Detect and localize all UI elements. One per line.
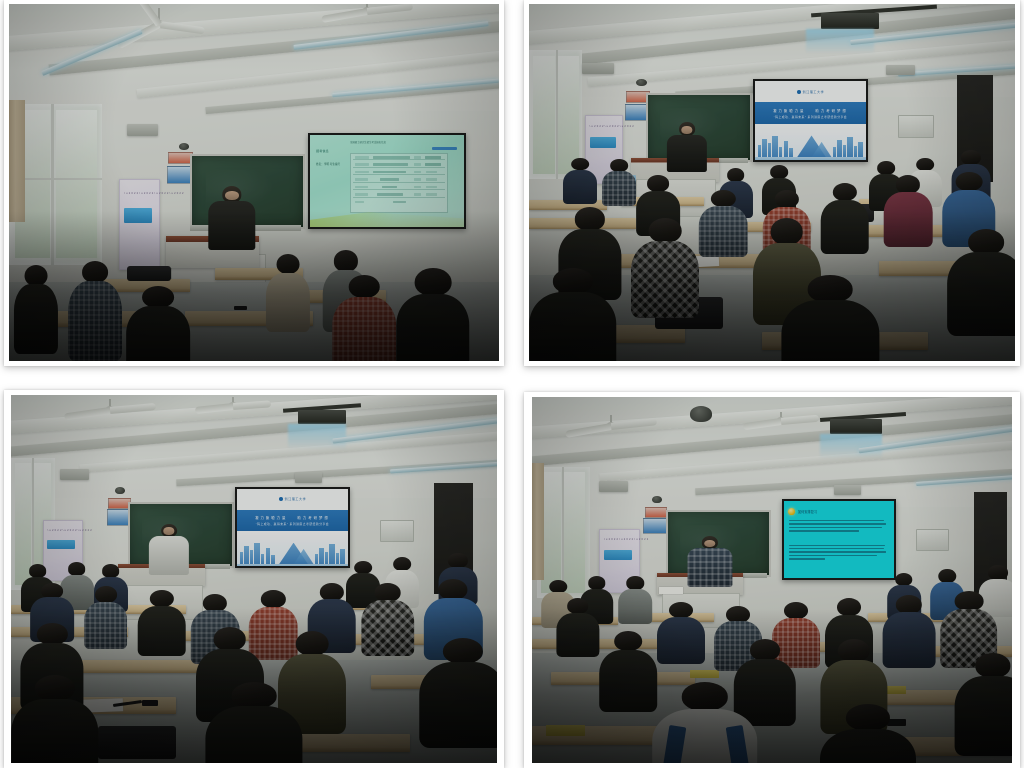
- presenter: [686, 536, 734, 587]
- dome-camera-icon: [636, 79, 647, 86]
- slide-header: 全国硕士研究生招生考试报名信息: [350, 140, 386, 144]
- photo-bottom-right: \u2022\u2022\u2022 如何安排复习: [532, 397, 1012, 763]
- wall-sign-red: [168, 152, 193, 164]
- slide-banner: 凝力聚聪力量 助力考研梦想 “码上成功、赢得未来” 系列讲座之考研经验分享会: [237, 510, 349, 532]
- slide-heading: 如何安排复习: [788, 505, 817, 517]
- audience-member: [563, 158, 597, 204]
- slide-badge: [432, 147, 457, 151]
- audience-member: [137, 590, 186, 656]
- audience-member: [84, 586, 128, 649]
- wall-sign-blue: [167, 166, 194, 184]
- yellow-booklet: [546, 725, 584, 736]
- slide-line1-right: 助力考研梦想: [297, 515, 329, 520]
- ceiling-projector: [821, 13, 879, 29]
- audience-member: [782, 275, 879, 361]
- ceiling-fan-icon: [753, 412, 809, 434]
- audience-member: [529, 268, 616, 361]
- poster-title: \u2022\u2022\u2022\u2022: [124, 192, 185, 195]
- slide-paragraph: [789, 520, 888, 534]
- slide-paragraph: [789, 545, 888, 562]
- smartphone: [142, 700, 158, 706]
- audience-member: [361, 583, 414, 657]
- photo-collage: \u2022\u2022\u2022\u2022 全国硕士研究生招生考试报名信息…: [0, 0, 1024, 768]
- air-conditioner: [916, 529, 949, 551]
- audience-member: [821, 183, 870, 254]
- slide-cityscape: [755, 124, 867, 159]
- slide-logo-text: 浙江理工大学: [285, 497, 307, 501]
- audience-member: [68, 261, 122, 361]
- audience-member: [266, 254, 310, 333]
- wall-speaker: [127, 124, 159, 136]
- ceiling-projector: [298, 410, 347, 425]
- audience-member: [599, 631, 657, 712]
- curtain: [9, 100, 25, 221]
- slide-title: 如何安排复习: [798, 509, 817, 514]
- poster-badge: [590, 137, 616, 148]
- ceiling-fan-icon: [580, 415, 642, 441]
- slide-line1-left: 凝力聚聪力量: [255, 515, 287, 520]
- air-conditioner: [898, 115, 934, 138]
- audience-member: [947, 229, 1015, 336]
- wall-speaker: [295, 472, 322, 482]
- slide-cyan-text: 如何安排复习: [784, 501, 894, 578]
- slide-logo: 浙江理工大学: [755, 81, 867, 102]
- projection-screen: 浙江理工大学 凝力聚聪力量 助力考研梦想 “码上成功、赢得未来” 系列讲座之考研…: [235, 487, 351, 568]
- audience-member: [419, 638, 497, 748]
- audience-member: [631, 218, 699, 318]
- slide-subtitle: 姓名：李明 考生编号: [316, 162, 340, 166]
- audience-member: [127, 286, 191, 361]
- wall-sign-blue: [643, 518, 667, 535]
- dome-camera-icon: [115, 487, 125, 494]
- lightbulb-icon: [788, 508, 795, 515]
- dome-camera-icon: [652, 496, 662, 503]
- slide-logo-text: 浙江理工大学: [803, 90, 825, 94]
- audience-member: [11, 675, 98, 763]
- photo-top-right: \u2022\u2022\u2022 浙江理工大: [529, 4, 1015, 361]
- poster-badge: [124, 208, 152, 222]
- slide-logo: 浙江理工大学: [237, 489, 349, 510]
- audience-member: [602, 159, 636, 205]
- wall-speaker: [60, 469, 89, 480]
- slide-title: 报考信息: [316, 149, 329, 153]
- wall-speaker: [599, 481, 628, 492]
- air-conditioner: [380, 520, 414, 542]
- slide-cityscape: [237, 531, 349, 566]
- photo-frame-top-right[interactable]: \u2022\u2022\u2022 浙江理工大: [524, 0, 1020, 366]
- ceiling-projector: [830, 419, 883, 434]
- poster-cabinet: \u2022\u2022\u2022\u2022: [119, 179, 160, 270]
- wall-sign-red: [645, 507, 667, 518]
- slide-blue-title: 浙江理工大学 凝力聚聪力量 助力考研梦想 “码上成功、赢得未来” 系列讲座之考研…: [755, 81, 867, 160]
- university-logo-icon: [797, 90, 801, 94]
- audience-member: [699, 190, 748, 258]
- audience-member: [396, 268, 470, 361]
- presenter: [147, 524, 191, 576]
- slide-table: [350, 153, 448, 213]
- ceiling-fan-icon: [79, 399, 141, 425]
- wall-speaker: [886, 65, 915, 76]
- audience-member: [820, 704, 916, 763]
- photo-frame-top-left[interactable]: \u2022\u2022\u2022\u2022 全国硕士研究生招生考试报名信息…: [4, 0, 504, 366]
- audience-member: [332, 275, 396, 361]
- wall-speaker: [582, 63, 614, 74]
- projection-screen: 全国硕士研究生招生考试报名信息 报考信息 姓名：李明 考生编号: [308, 133, 466, 230]
- poster-badge: [604, 550, 632, 560]
- audience-member: [14, 265, 58, 354]
- bag: [127, 266, 171, 280]
- slide-line1-right: 助力考研梦想: [815, 108, 847, 113]
- slide-green-table: 全国硕士研究生招生考试报名信息 报考信息 姓名：李明 考生编号: [310, 135, 464, 228]
- audience-member: [884, 175, 933, 246]
- audience-member: [556, 598, 599, 657]
- ceiling-fan-icon: [332, 4, 402, 26]
- slide-blue-title: 浙江理工大学 凝力聚聪力量 助力考研梦想 “码上成功、赢得未来” 系列讲座之考研…: [237, 489, 349, 566]
- slide-banner: 凝力聚聪力量 助力考研梦想 “码上成功、赢得未来” 系列讲座之考研经验分享会: [755, 102, 867, 124]
- paper-sheet: [659, 587, 683, 594]
- photo-frame-bottom-right[interactable]: \u2022\u2022\u2022 如何安排复习: [524, 392, 1020, 768]
- audience-member: [618, 576, 652, 624]
- slide-line2: “码上成功、赢得未来” 系列讲座之考研经验分享会: [256, 522, 329, 526]
- wall-speaker: [834, 485, 860, 495]
- poster-title: \u2022\u2022\u2022: [47, 529, 92, 532]
- audience-member: [205, 682, 302, 763]
- dome-camera-icon: [690, 406, 712, 421]
- poster-badge: [47, 540, 75, 549]
- smartphone: [234, 306, 247, 310]
- slide-line2: “码上成功、赢得未来” 系列讲座之考研经验分享会: [774, 115, 847, 119]
- audience-member: [657, 602, 705, 664]
- curtain: [532, 463, 544, 580]
- photo-top-left: \u2022\u2022\u2022\u2022 全国硕士研究生招生考试报名信息…: [9, 4, 499, 361]
- photo-bottom-left: \u2022\u2022\u2022 浙江理工大学: [11, 395, 497, 763]
- presenter: [665, 122, 709, 172]
- poster-title: \u2022\u2022\u2022: [604, 538, 649, 541]
- presenter: [205, 186, 259, 250]
- slide-line1-left: 凝力聚聪力量: [773, 108, 805, 113]
- backpack: [98, 726, 176, 759]
- ceiling-fan-icon: [205, 397, 261, 419]
- projection-screen: 浙江理工大学 凝力聚聪力量 助力考研梦想 “码上成功、赢得未来” 系列讲座之考研…: [753, 79, 869, 162]
- audience-member: [882, 595, 935, 668]
- projection-screen: 如何安排复习: [782, 499, 896, 580]
- university-logo-icon: [279, 497, 283, 501]
- audience-member: [954, 653, 1012, 755]
- photo-frame-bottom-left[interactable]: \u2022\u2022\u2022 浙江理工大学: [4, 390, 504, 768]
- poster-title: \u2022\u2022\u2022: [590, 125, 635, 128]
